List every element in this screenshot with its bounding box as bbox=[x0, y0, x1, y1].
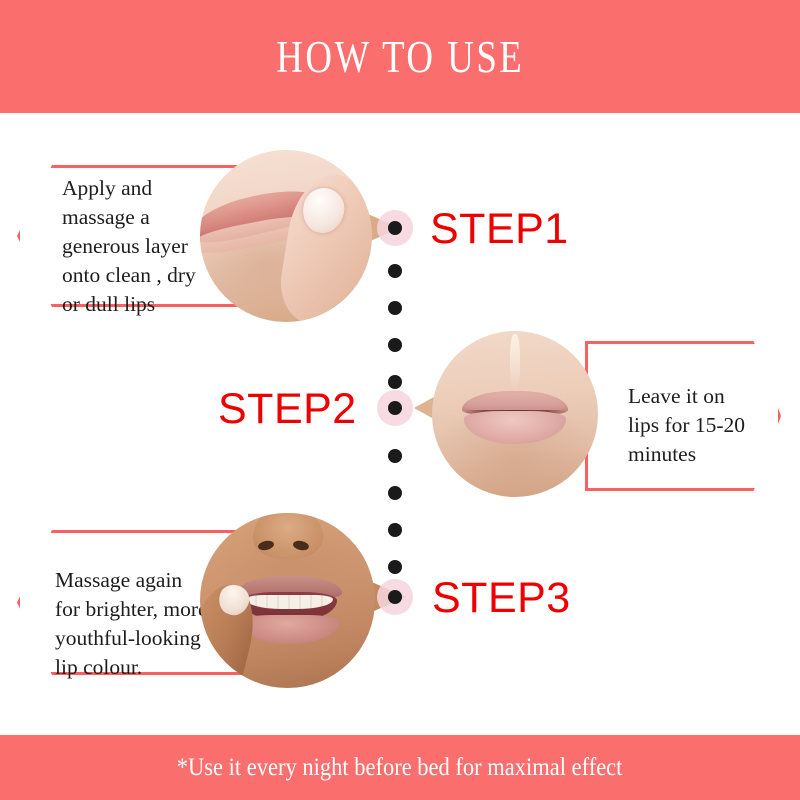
step-2-marker-dot bbox=[388, 401, 402, 415]
timeline-dot bbox=[388, 486, 402, 500]
step-1-label: STEP1 bbox=[430, 205, 569, 254]
step-1-marker-dot bbox=[388, 221, 402, 235]
step-2-callout-text: Leave it on lips for 15-20 minutes bbox=[628, 382, 783, 469]
step-3-photo-nose bbox=[253, 513, 323, 559]
step-2-label: STEP2 bbox=[218, 385, 357, 434]
timeline-dot bbox=[388, 523, 402, 537]
timeline-dot bbox=[388, 338, 402, 352]
header-band: HOW TO USE bbox=[0, 0, 800, 113]
page-title: HOW TO USE bbox=[276, 31, 524, 83]
step-1-photo bbox=[200, 150, 372, 322]
timeline-dot bbox=[388, 264, 402, 278]
how-to-use-infographic: HOW TO USE Apply and massage a generous … bbox=[0, 0, 800, 800]
timeline-dot bbox=[388, 560, 402, 574]
timeline-dot bbox=[388, 375, 402, 389]
footer-band: *Use it every night before bed for maxim… bbox=[0, 735, 800, 800]
timeline-dot bbox=[388, 301, 402, 315]
step-2-photo-philtrum bbox=[510, 334, 520, 390]
step-2-photo bbox=[432, 331, 598, 497]
step-3-label: STEP3 bbox=[432, 574, 571, 623]
step-3-photo bbox=[200, 513, 375, 688]
step-3-marker-dot bbox=[388, 590, 402, 604]
timeline-dot bbox=[388, 449, 402, 463]
footer-note: *Use it every night before bed for maxim… bbox=[177, 754, 623, 782]
